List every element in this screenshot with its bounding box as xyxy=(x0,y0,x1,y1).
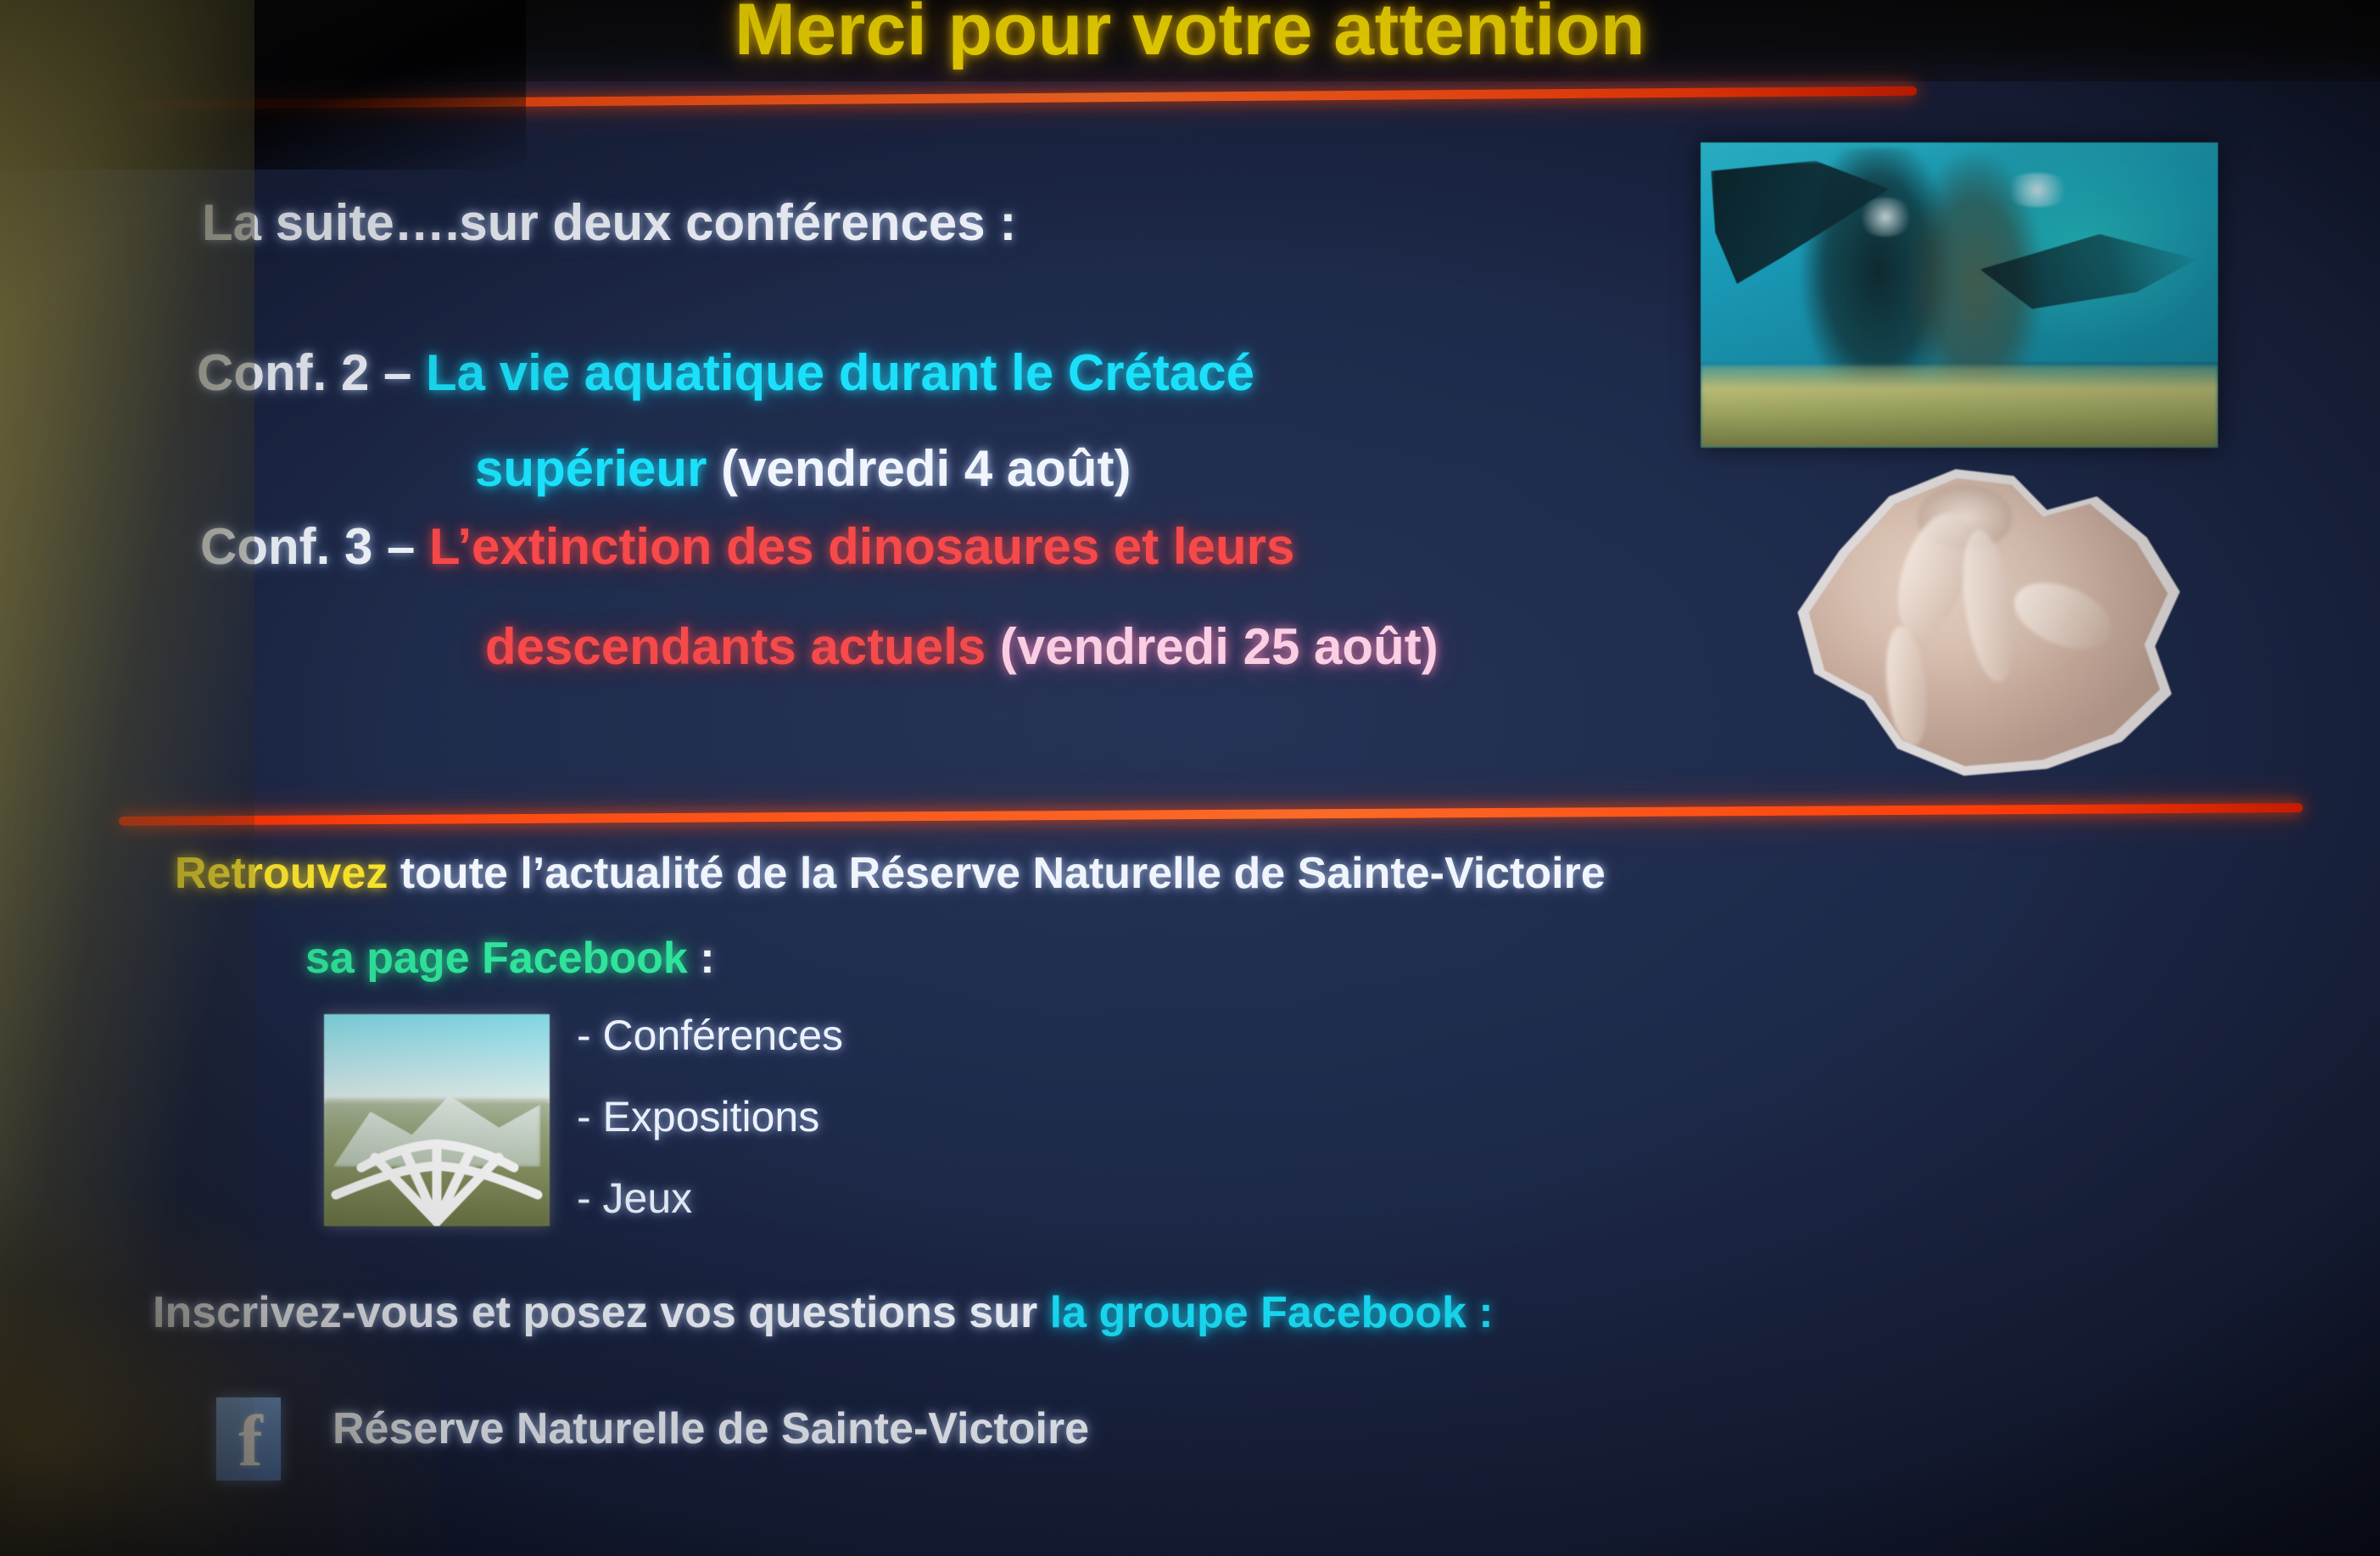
reserve-logo-thumbnail xyxy=(324,1014,550,1226)
follow-highlight: Retrouvez xyxy=(175,849,388,898)
list-item: - Jeux xyxy=(577,1174,692,1223)
fossil-bone xyxy=(2004,570,2120,661)
facebook-icon[interactable]: f xyxy=(216,1397,281,1481)
conference-3-date: (vendredi 25 août) xyxy=(986,618,1438,675)
follow-line: Retrouvez toute l’actualité de la Réserv… xyxy=(175,848,1606,899)
facebook-group-link[interactable]: la groupe Facebook : xyxy=(1050,1288,1494,1337)
conference-3-topic-line1: L’extinction des dinosaures et leurs xyxy=(429,518,1294,575)
conference-2-label: Conf. 2 – xyxy=(197,344,426,401)
conference-2-topic-line2: supérieur xyxy=(475,440,707,497)
logo-web-mark xyxy=(324,1086,550,1226)
list-item: - Expositions xyxy=(577,1092,819,1141)
facebook-page-colon: : xyxy=(688,934,715,983)
facebook-page-link[interactable]: sa page Facebook xyxy=(305,934,688,983)
follow-text: toute l’actualité de la Réserve Naturell… xyxy=(388,849,1605,898)
light-sparkle xyxy=(2001,173,2074,207)
conference-3-topic-line2: descendants actuels xyxy=(485,618,986,675)
signup-text: Inscrivez-vous et posez vos questions su… xyxy=(153,1288,1050,1337)
conference-3-label: Conf. 3 – xyxy=(200,518,429,575)
seabed xyxy=(1701,365,2218,448)
conference-2-line2: supérieur (vendredi 4 août) xyxy=(475,439,1131,498)
conference-3-line1: Conf. 3 – L’extinction des dinosaures et… xyxy=(200,517,1294,576)
underwater-scene-image xyxy=(1701,142,2218,448)
list-item: - Conférences xyxy=(577,1011,843,1060)
photographed-slide: Merci pour votre attention La suite….sur… xyxy=(0,0,2380,1556)
conference-3-line2: descendants actuels (vendredi 25 août) xyxy=(485,617,1439,676)
fossil-bone xyxy=(1954,527,2022,685)
signup-line: Inscrivez-vous et posez vos questions su… xyxy=(153,1287,1494,1338)
facebook-icon-letter: f xyxy=(238,1404,263,1477)
fossil-image xyxy=(1768,445,2193,793)
facebook-page-line[interactable]: sa page Facebook : xyxy=(305,933,715,984)
conference-2-line1: Conf. 2 – La vie aquatique durant le Cré… xyxy=(197,343,1254,402)
intro-line: La suite….sur deux conférences : xyxy=(202,193,1016,252)
slide-title-text: Merci pour votre attention xyxy=(735,0,1645,72)
intro-text: La suite….sur deux conférences : xyxy=(202,194,1016,251)
facebook-page-name: Réserve Naturelle de Sainte-Victoire xyxy=(332,1403,1089,1454)
facebook-page-name-text: Réserve Naturelle de Sainte-Victoire xyxy=(332,1404,1089,1453)
conference-2-date: (vendredi 4 août) xyxy=(707,440,1131,497)
light-sparkle xyxy=(1856,198,1915,237)
conference-2-topic-line1: La vie aquatique durant le Crétacé xyxy=(426,344,1254,401)
slide-title: Merci pour votre attention xyxy=(0,0,2380,72)
